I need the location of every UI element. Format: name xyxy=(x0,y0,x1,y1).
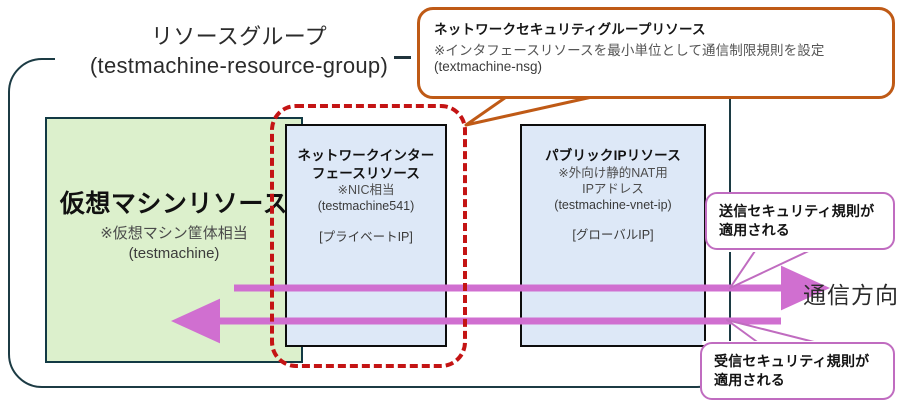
vm-resource-label: 仮想マシンリソース ※仮想マシン筐体相当 (testmachine) xyxy=(45,188,303,264)
vm-resource-id: (testmachine) xyxy=(45,244,303,264)
resource-group-title-line2: (testmachine-resource-group) xyxy=(59,51,419,80)
resource-group-title-line1: リソースグループ xyxy=(151,24,327,49)
public-ip-resource-note-line1: ※外向け静的NAT用 xyxy=(520,165,706,181)
inbound-rule-callout: 受信セキュリティ規則が 適用される xyxy=(700,342,895,400)
nsg-callout-id: (textmachine-nsg) xyxy=(434,59,880,74)
nsg-callout-note: ※インタフェースリソースを最小単位として通信制限規則を設定 xyxy=(434,39,880,59)
outbound-rule-callout-line2: 適用される xyxy=(719,221,883,240)
resource-group-title: リソースグループ (testmachine-resource-group) xyxy=(55,22,423,80)
nsg-boundary-dashed xyxy=(270,104,467,368)
public-ip-resource-ip-tag: [グローバルIP] xyxy=(520,227,706,243)
vm-resource-note: ※仮想マシン筐体相当 xyxy=(45,224,303,244)
inbound-rule-callout-line1: 受信セキュリティ規則が xyxy=(714,352,883,371)
title-leader-dash-icon xyxy=(394,56,411,59)
nsg-callout-title: ネットワークセキュリティグループリソース xyxy=(434,18,880,38)
outbound-rule-callout: 送信セキュリティ規則が 適用される xyxy=(705,192,895,250)
vm-resource-title: 仮想マシンリソース xyxy=(45,188,303,222)
inbound-rule-callout-line2: 適用される xyxy=(714,371,883,390)
public-ip-resource-label: パブリックIPリソース ※外向け静的NAT用 IPアドレス (testmachi… xyxy=(520,147,706,244)
diagram-canvas: リソースグループ (testmachine-resource-group) 仮想… xyxy=(0,0,909,403)
outbound-rule-callout-line1: 送信セキュリティ規則が xyxy=(719,202,883,221)
inbound-rule-callout-tail xyxy=(727,320,822,344)
public-ip-resource-title: パブリックIPリソース xyxy=(520,147,706,165)
public-ip-resource-id: (testmachine-vnet-ip) xyxy=(520,197,706,213)
flow-direction-label: 通信方向 xyxy=(803,276,899,310)
public-ip-resource-note-line2: IPアドレス xyxy=(520,181,706,197)
nsg-callout-balloon: ネットワークセキュリティグループリソース ※インタフェースリソースを最小単位とし… xyxy=(417,7,895,99)
